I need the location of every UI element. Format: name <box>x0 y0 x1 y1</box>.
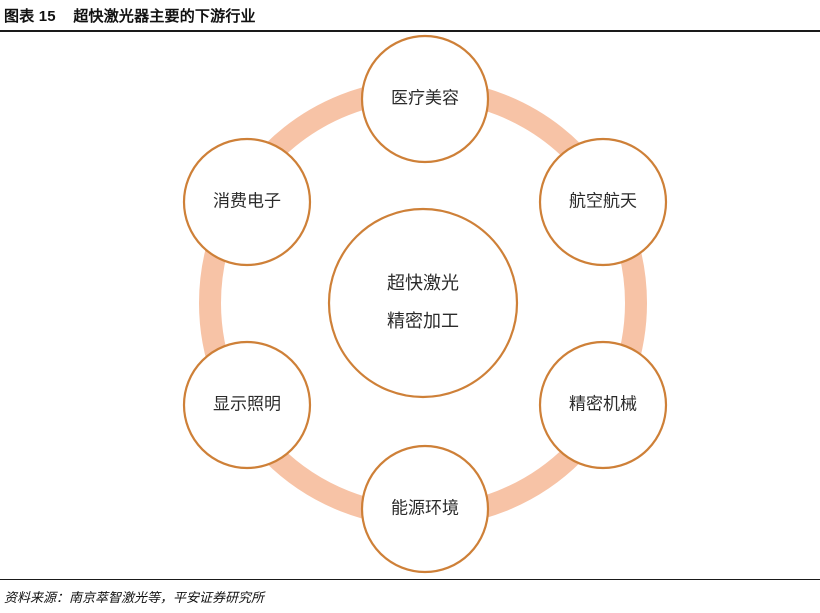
hub-label-line-2: 精密加工 <box>387 311 459 331</box>
diagram-canvas: 超快激光 精密加工 医疗美容 航空航天 精密机械 能源环境 <box>0 32 820 579</box>
node-display-lighting[interactable]: 显示照明 <box>184 342 310 468</box>
hub-label-line-1: 超快激光 <box>387 273 459 293</box>
exhibit-figure: 图表 15 超快激光器主要的下游行业 超快激光 精密加工 医疗美容 航空航天 <box>0 0 820 613</box>
node-precision-machinery[interactable]: 精密机械 <box>540 342 666 468</box>
radial-diagram: 超快激光 精密加工 医疗美容 航空航天 精密机械 能源环境 <box>0 32 820 579</box>
node-energy-environment[interactable]: 能源环境 <box>362 446 488 572</box>
exhibit-footer: 资料来源：南京萃智激光等，平安证券研究所 <box>0 579 820 613</box>
node-label-energy-environment: 能源环境 <box>391 498 459 517</box>
node-aerospace[interactable]: 航空航天 <box>540 139 666 265</box>
node-label-display-lighting: 显示照明 <box>213 394 281 413</box>
hub-node[interactable]: 超快激光 精密加工 <box>329 209 517 397</box>
source-note: 资料来源：南京萃智激光等，平安证券研究所 <box>4 587 264 606</box>
node-consumer-electronics[interactable]: 消费电子 <box>184 139 310 265</box>
node-label-consumer-electronics: 消费电子 <box>213 191 281 210</box>
hub-circle <box>329 209 517 397</box>
node-medical-beauty[interactable]: 医疗美容 <box>362 36 488 162</box>
page-title: 图表 15 超快激光器主要的下游行业 <box>4 5 256 26</box>
node-label-medical-beauty: 医疗美容 <box>391 88 459 107</box>
node-label-precision-machinery: 精密机械 <box>569 394 637 413</box>
node-label-aerospace: 航空航天 <box>569 191 637 210</box>
exhibit-header: 图表 15 超快激光器主要的下游行业 <box>0 0 820 32</box>
